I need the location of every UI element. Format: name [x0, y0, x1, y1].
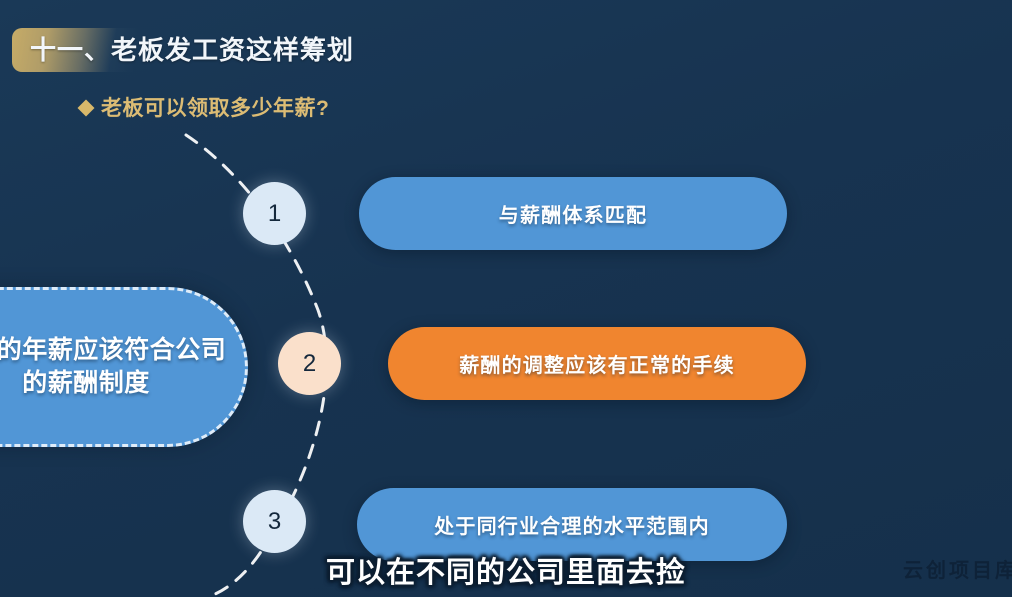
- step-bar-2[interactable]: 薪酬的调整应该有正常的手续: [388, 327, 806, 400]
- slide-canvas: 十一、老板发工资这样筹划 老板可以领取多少年薪? 老板的年薪应该符合公司的薪酬制…: [0, 0, 1012, 597]
- main-statement-label: 老板的年薪应该符合公司的薪酬制度: [0, 334, 236, 400]
- main-statement-pill: 老板的年薪应该符合公司的薪酬制度: [0, 287, 248, 447]
- step-circle-1[interactable]: 1: [243, 182, 306, 245]
- diamond-bullet-icon: [78, 99, 95, 116]
- step-bar-2-label: 薪酬的调整应该有正常的手续: [459, 349, 735, 378]
- step-bar-1[interactable]: 与薪酬体系匹配: [359, 177, 787, 250]
- step-number-1: 1: [268, 200, 281, 228]
- step-number-2: 2: [303, 350, 316, 378]
- step-circle-2[interactable]: 2: [278, 332, 341, 395]
- step-bar-1-label: 与薪酬体系匹配: [499, 199, 647, 228]
- page-title: 十一、老板发工资这样筹划: [30, 30, 354, 67]
- step-number-3: 3: [268, 508, 281, 536]
- watermark: 云创项目库: [903, 554, 1012, 583]
- subtitle: 老板可以领取多少年薪?: [80, 92, 329, 122]
- video-caption: 可以在不同的公司里面去捡: [0, 549, 1012, 591]
- step-bar-3-label: 处于同行业合理的水平范围内: [434, 510, 710, 539]
- step-circle-3[interactable]: 3: [243, 490, 306, 553]
- subtitle-label: 老板可以领取多少年薪?: [101, 92, 329, 122]
